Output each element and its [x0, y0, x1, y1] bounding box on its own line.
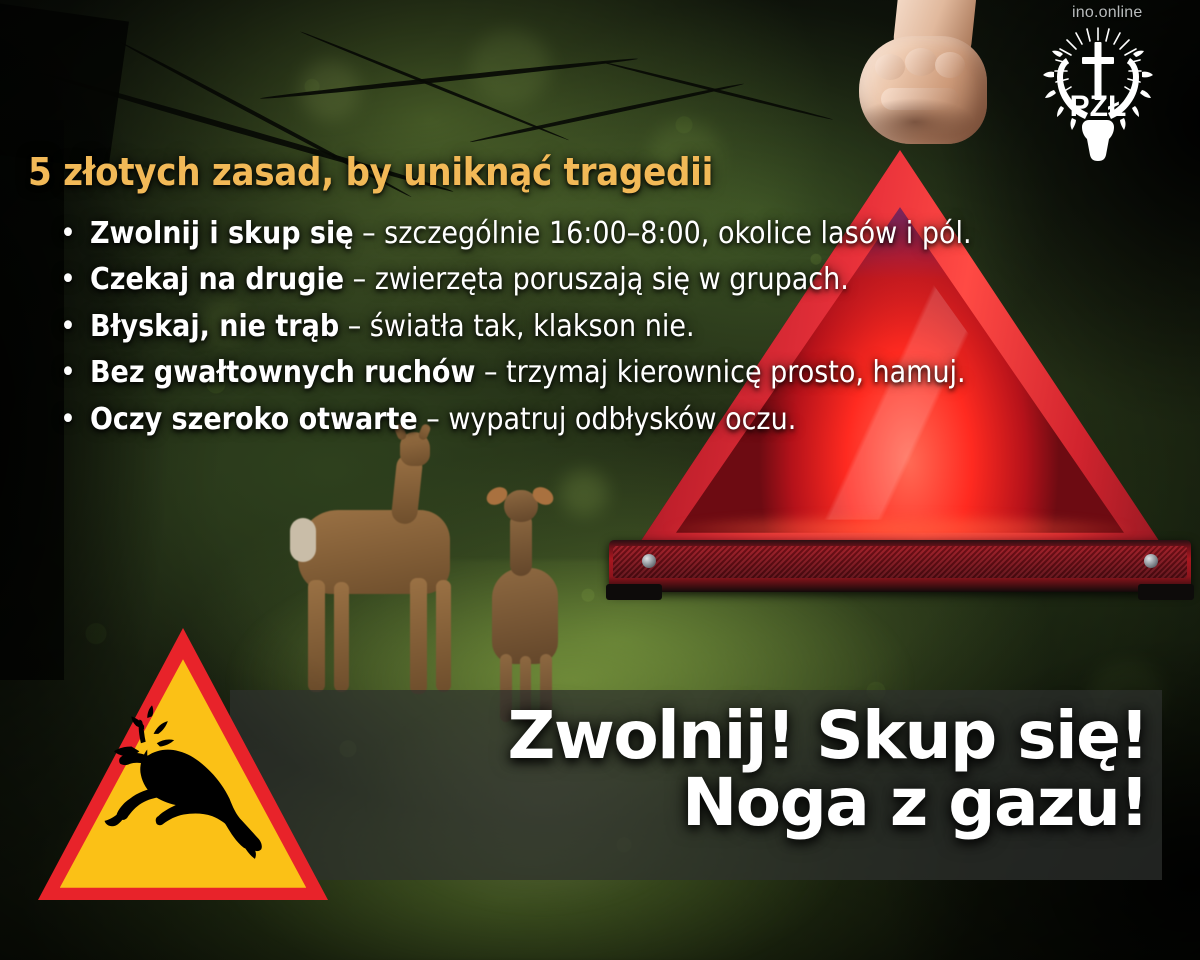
bullet-icon: •: [60, 404, 76, 436]
hand-holding-triangle: [845, 0, 1025, 169]
triangle-rivet-right: [1144, 554, 1158, 568]
pzl-logo-text: PZŁ: [1070, 90, 1127, 123]
pzl-logo: PZŁ: [1018, 24, 1178, 164]
pzl-emblem-icon: PZŁ: [1018, 24, 1178, 164]
triangle-foot-right: [1138, 584, 1194, 600]
rule-lead: Oczy szeroko otwarte: [90, 402, 418, 437]
rule-lead: Bez gwałtownych ruchów: [90, 355, 475, 390]
bullet-icon: •: [60, 264, 76, 296]
rule-detail: – trzymaj kierownicę prosto, hamuj.: [475, 355, 965, 390]
rule-detail: – wypatruj odbłysków oczu.: [418, 402, 797, 437]
bullet-icon: •: [60, 357, 76, 389]
wild-animals-warning-sign: [38, 628, 328, 900]
hand-shadow: [855, 98, 975, 146]
rule-detail: – zwierzęta poruszają się w grupach.: [344, 262, 849, 297]
bullet-icon: •: [60, 311, 76, 343]
rule-lead: Czekaj na drugie: [90, 262, 344, 297]
triangle-base-bar: [609, 540, 1191, 592]
list-item: • Błyskaj, nie trąb – światła tak, klaks…: [60, 311, 1150, 343]
triangle-rivet-left: [642, 554, 656, 568]
slogan-line-2: Noga z gazu!: [448, 769, 1148, 836]
rule-detail: – światła tak, klakson nie.: [339, 309, 694, 344]
list-item: • Zwolnij i skup się – szczególnie 16:00…: [60, 218, 1150, 250]
list-item: • Bez gwałtownych ruchów – trzymaj kiero…: [60, 357, 1150, 389]
bullet-icon: •: [60, 218, 76, 250]
triangle-foot-left: [606, 584, 662, 600]
rule-lead: Zwolnij i skup się: [90, 216, 354, 251]
list-item: • Czekaj na drugie – zwierzęta poruszają…: [60, 264, 1150, 296]
site-watermark: ino.online: [1072, 4, 1143, 22]
poster-canvas: ino.online: [0, 0, 1200, 960]
rule-lead: Błyskaj, nie trąb: [90, 309, 339, 344]
slogan-text: Zwolnij! Skup się! Noga z gazu!: [448, 702, 1148, 837]
slogan-line-1: Zwolnij! Skup się!: [507, 697, 1148, 774]
rule-detail: – szczególnie 16:00–8:00, okolice lasów …: [354, 216, 972, 251]
list-item: • Oczy szeroko otwarte – wypatruj odbłys…: [60, 404, 1150, 436]
leaping-deer-icon: [84, 699, 293, 873]
page-title: 5 złotych zasad, by uniknąć tragedii: [28, 150, 713, 194]
rules-list: • Zwolnij i skup się – szczególnie 16:00…: [60, 218, 1150, 450]
